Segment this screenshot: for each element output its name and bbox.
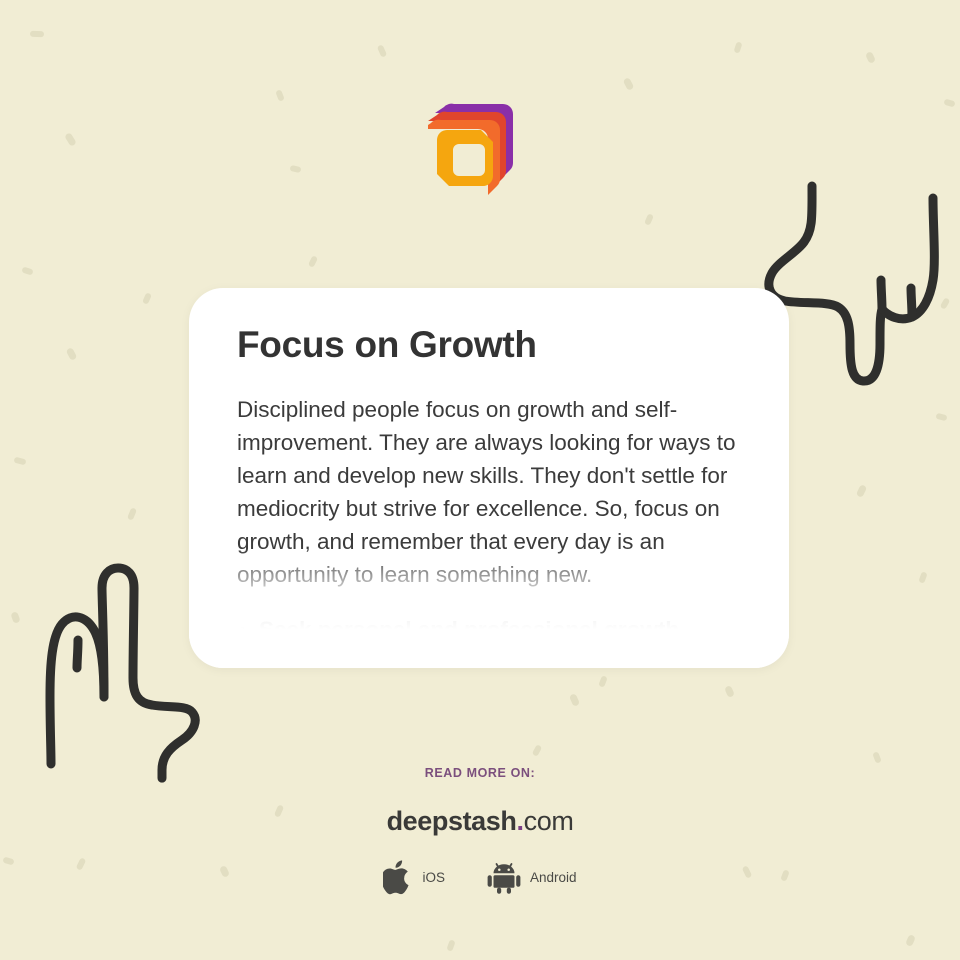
ios-store-label: iOS	[422, 870, 445, 885]
confetti-speck	[724, 685, 735, 698]
confetti-speck	[733, 41, 742, 53]
android-store-label: Android	[530, 870, 577, 885]
confetti-speck	[644, 213, 654, 225]
confetti-speck	[943, 99, 955, 108]
site-tld: com	[524, 806, 574, 836]
card-content: Focus on Growth Disciplined people focus…	[189, 288, 789, 646]
confetti-speck	[940, 297, 951, 310]
card-title: Focus on Growth	[237, 324, 741, 367]
confetti-speck	[30, 31, 44, 37]
confetti-speck	[856, 484, 868, 498]
confetti-speck	[127, 507, 137, 520]
site-dot: .	[517, 806, 524, 836]
confetti-speck	[446, 939, 455, 951]
confetti-speck	[569, 693, 580, 707]
pointing-hand-icon	[26, 560, 206, 780]
apple-icon	[383, 859, 413, 895]
confetti-speck	[142, 292, 152, 304]
list-item: Seek personal and professional growth	[259, 613, 741, 646]
confetti-speck	[598, 675, 608, 687]
read-more-label: READ MORE ON:	[0, 766, 960, 780]
android-icon	[487, 860, 521, 894]
deepstash-logo	[428, 100, 524, 200]
confetti-speck	[623, 77, 635, 91]
confetti-speck	[872, 751, 882, 763]
site-name: deepstash	[387, 806, 517, 836]
ios-store-badge[interactable]: iOS	[383, 859, 445, 895]
confetti-speck	[377, 44, 387, 57]
confetti-speck	[532, 744, 542, 757]
confetti-speck	[918, 571, 927, 583]
card-body-text: Disciplined people focus on growth and s…	[237, 393, 741, 591]
confetti-speck	[935, 413, 947, 421]
confetti-speck	[66, 347, 78, 361]
footer: READ MORE ON: deepstash.com iOS	[0, 766, 960, 895]
confetti-speck	[13, 457, 26, 466]
site-wordmark[interactable]: deepstash.com	[0, 806, 960, 837]
poster-canvas: Focus on Growth Disciplined people focus…	[0, 0, 960, 960]
confetti-speck	[64, 132, 77, 147]
app-store-badges: iOS	[0, 859, 960, 895]
android-store-badge[interactable]: Android	[487, 860, 577, 894]
confetti-speck	[21, 266, 33, 275]
confetti-speck	[865, 51, 876, 64]
confetti-speck	[275, 89, 285, 101]
confetti-speck	[10, 611, 20, 624]
idea-card: Focus on Growth Disciplined people focus…	[189, 288, 789, 668]
confetti-speck	[308, 255, 318, 268]
card-bullet-list: Seek personal and professional growth	[237, 613, 741, 646]
confetti-speck	[289, 165, 301, 173]
confetti-speck	[905, 934, 916, 947]
